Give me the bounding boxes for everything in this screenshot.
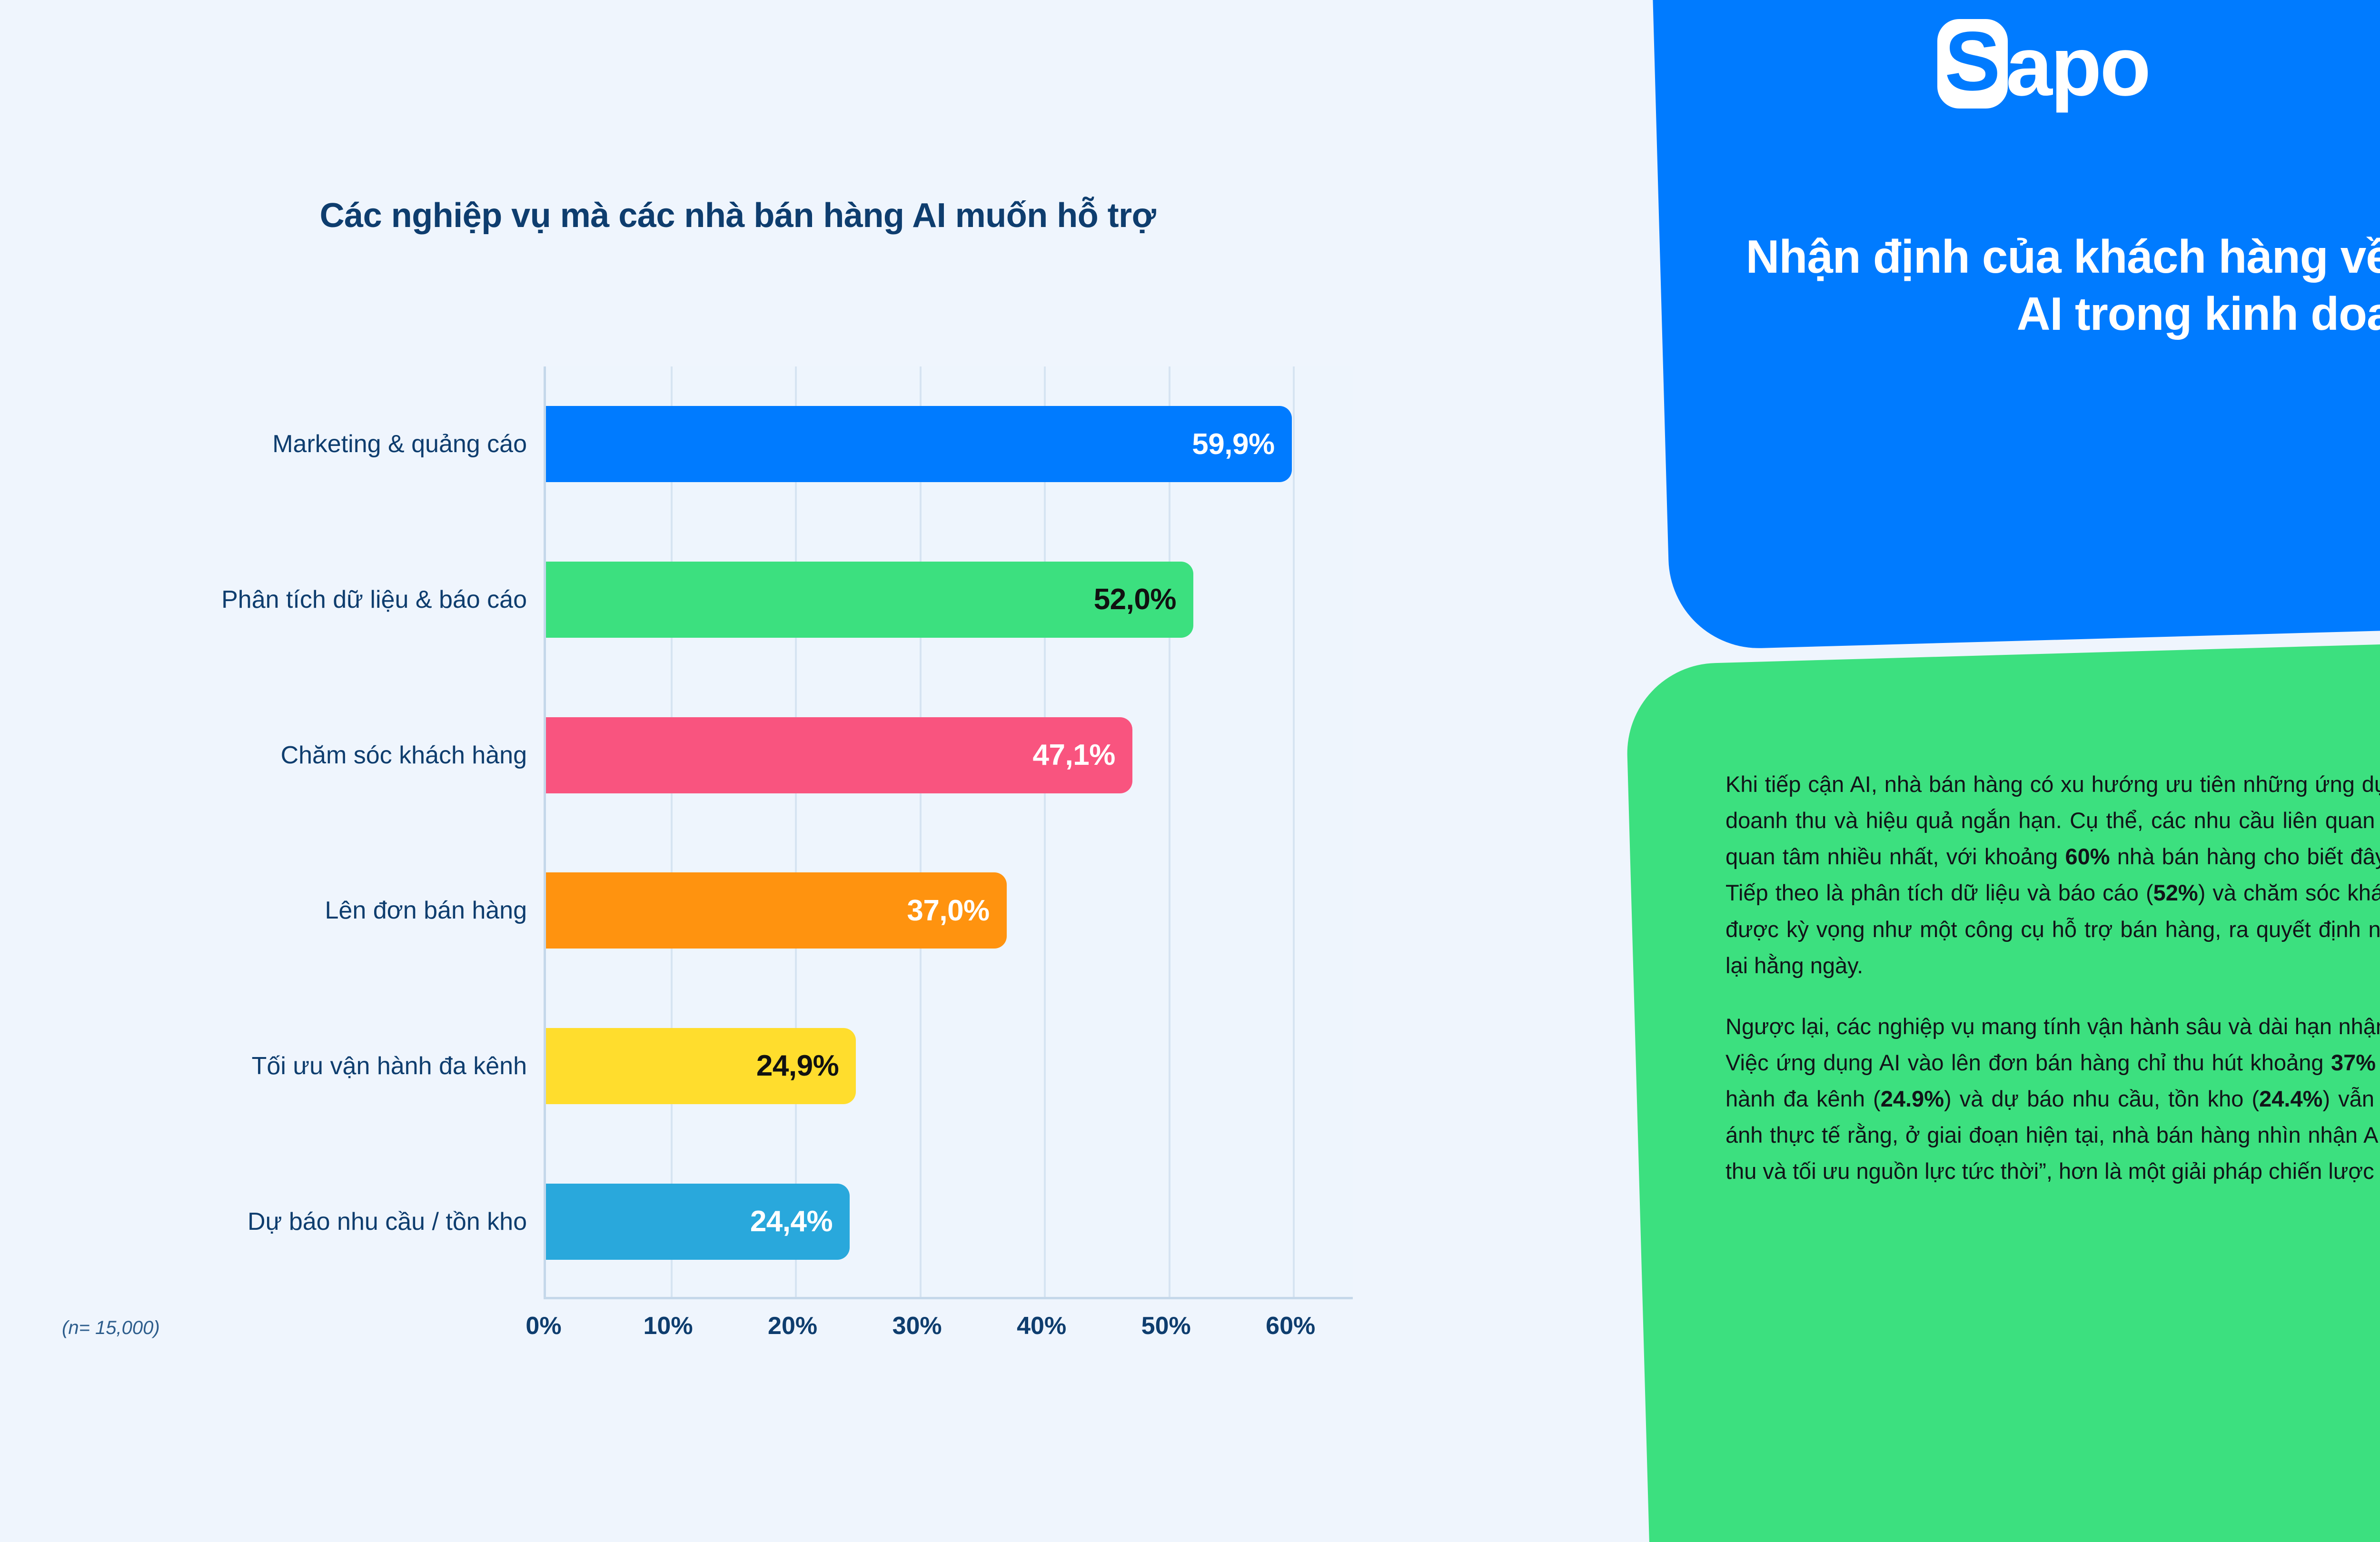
bar-row: 24,4% bbox=[546, 1144, 1355, 1299]
sapo-s-letter: S bbox=[1937, 19, 2008, 109]
bar-5[interactable]: 24,9% bbox=[546, 1028, 856, 1104]
x-tick-label: 50% bbox=[1141, 1312, 1191, 1340]
p2-stat-37: 37% bbox=[2331, 1050, 2376, 1075]
plot-area: 59,9%52,0%47,1%37,0%24,9%24,4% bbox=[544, 366, 1353, 1299]
x-tick-label: 30% bbox=[892, 1312, 942, 1340]
chart-title: Các nghiệp vụ mà các nhà bán hàng AI muố… bbox=[0, 196, 1476, 235]
sample-size-note: (n= 15,000) bbox=[62, 1317, 160, 1339]
bar-4[interactable]: 37,0% bbox=[546, 872, 1007, 949]
category-label-6: Dự báo nhu cầu / tồn kho bbox=[51, 1207, 527, 1236]
infographic-root: Các nghiệp vụ mà các nhà bán hàng AI muố… bbox=[0, 0, 2380, 1542]
x-tick-label: 60% bbox=[1266, 1312, 1315, 1340]
bar-value-label: 24,4% bbox=[750, 1205, 833, 1238]
bar-row: 52,0% bbox=[546, 522, 1355, 678]
p2-text-c: ) và dự báo nhu cầu, tồn kho ( bbox=[1944, 1086, 2259, 1111]
bar-value-label: 24,9% bbox=[756, 1049, 839, 1083]
bar-3[interactable]: 47,1% bbox=[546, 717, 1132, 793]
category-label-2: Phân tích dữ liệu & báo cáo bbox=[51, 585, 527, 614]
green-body-card: Khi tiếp cận AI, nhà bán hàng có xu hướn… bbox=[1625, 633, 2380, 1542]
p2-stat-244: 24.4% bbox=[2259, 1086, 2322, 1111]
bar-row: 24,9% bbox=[546, 988, 1355, 1144]
p1-stat-52: 52% bbox=[2153, 880, 2198, 905]
bar-value-label: 52,0% bbox=[1094, 583, 1176, 616]
bar-row: 47,1% bbox=[546, 677, 1355, 833]
green-body-content: Khi tiếp cận AI, nhà bán hàng có xu hướn… bbox=[1652, 633, 2380, 1542]
sapo-wordmark: apo bbox=[2006, 25, 2149, 109]
bar-row: 37,0% bbox=[546, 833, 1355, 988]
x-tick-label: 40% bbox=[1017, 1312, 1066, 1340]
x-tick-label: 20% bbox=[768, 1312, 817, 1340]
category-label-5: Tối ưu vận hành đa kênh bbox=[51, 1052, 527, 1080]
x-tick-label: 0% bbox=[526, 1312, 561, 1340]
bar-value-label: 37,0% bbox=[907, 894, 989, 928]
sapo-badge-icon: S bbox=[1937, 19, 2008, 109]
blue-header-content: S apo Nhận định của khách hàng về việc ứ… bbox=[1652, 0, 2380, 619]
p1-text-c: ) và chăm sóc khách hàng ( bbox=[2198, 880, 2380, 905]
p1-stat-60: 60% bbox=[2065, 844, 2110, 869]
bar-1[interactable]: 59,9% bbox=[546, 406, 1292, 482]
blue-header-card: S apo Nhận định của khách hàng về việc ứ… bbox=[1652, 0, 2380, 651]
p2-text-a: Ngược lại, các nghiệp vụ mang tính vận h… bbox=[1725, 1014, 2380, 1075]
category-label-4: Lên đơn bán hàng bbox=[51, 896, 527, 925]
panel-headline: Nhận định của khách hàng về việc ứng dụn… bbox=[1723, 228, 2380, 342]
p2-stat-249: 24.9% bbox=[1881, 1086, 1944, 1111]
category-label-3: Chăm sóc khách hàng bbox=[51, 741, 527, 770]
bar-value-label: 47,1% bbox=[1033, 738, 1115, 772]
category-label-1: Marketing & quảng cáo bbox=[51, 430, 527, 458]
body-paragraph-1: Khi tiếp cận AI, nhà bán hàng có xu hướn… bbox=[1725, 766, 2380, 984]
bar-value-label: 59,9% bbox=[1192, 427, 1274, 461]
bar-row: 59,9% bbox=[546, 366, 1355, 522]
bar-6[interactable]: 24,4% bbox=[546, 1184, 850, 1260]
body-paragraph-2: Ngược lại, các nghiệp vụ mang tính vận h… bbox=[1725, 1008, 2380, 1190]
x-tick-label: 10% bbox=[643, 1312, 693, 1340]
bar-2[interactable]: 52,0% bbox=[546, 562, 1193, 638]
sapo-logo: S apo bbox=[1937, 19, 2149, 109]
category-axis: Marketing & quảng cáoPhân tích dữ liệu &… bbox=[33, 366, 528, 1299]
chart-panel: Các nghiệp vụ mà các nhà bán hàng AI muố… bbox=[0, 0, 1642, 1542]
